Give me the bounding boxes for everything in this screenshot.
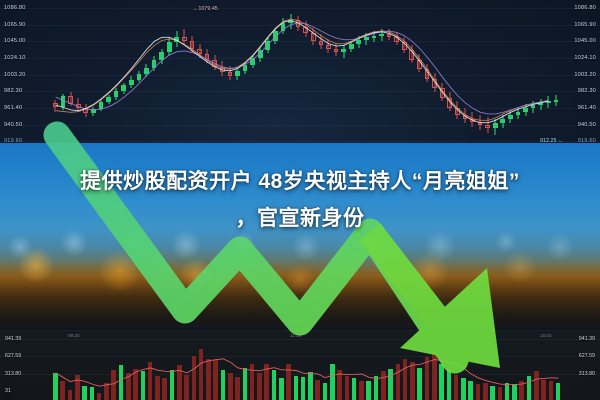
time-label: 15:00 <box>540 333 552 338</box>
price-axis-label: 940.50 <box>4 122 22 128</box>
ma-line-purple <box>56 23 549 114</box>
price-axis-label: 1045.00 <box>574 38 596 44</box>
volume-ma-line <box>0 331 600 400</box>
price-axis-label: 1003.20 <box>4 72 26 78</box>
price-axis-label: 982.30 <box>578 88 596 94</box>
price-axis-label: 1086.80 <box>4 5 26 11</box>
price-axis-label: 1065.90 <box>4 22 26 28</box>
price-axis-label: 1065.90 <box>574 22 596 28</box>
volume-axis-label: 313.80 <box>579 371 595 377</box>
volume-axis-label: 941.39 <box>5 336 21 342</box>
price-axis-label: 1003.20 <box>574 72 596 78</box>
time-label: 11:30 <box>290 333 301 338</box>
price-axis-label: 1024.10 <box>4 55 26 61</box>
time-label: 09:30 <box>68 333 80 338</box>
headline-line-1: 提供炒股配资开户 48岁央视主持人“月亮姐姐” <box>0 163 600 200</box>
peak-annotation: ←1079.45 <box>193 6 218 12</box>
volume-axis-label: 627.59 <box>5 353 21 359</box>
headline-line-2: ，官宣新身份 <box>0 200 600 237</box>
price-axis-label: 982.30 <box>4 88 22 94</box>
volume-axis-label: 941.39 <box>579 336 595 342</box>
volume-ma-polyline <box>56 359 559 386</box>
volume-chart-panel: 941.39627.59313.8031 941.39627.59313.80 <box>0 330 600 400</box>
price-axis-label: 1045.00 <box>4 38 26 44</box>
price-axis-label: 1024.10 <box>574 55 596 61</box>
headline-text: 提供炒股配资开户 48岁央视主持人“月亮姐姐” ，官宣新身份 <box>0 163 600 237</box>
price-axis-label: 961.40 <box>4 105 22 111</box>
screenshot-root: 1086.801065.901045.001024.101003.20982.3… <box>0 0 600 400</box>
price-axis-label: 940.50 <box>578 122 596 128</box>
volume-axis-label: 313.80 <box>5 371 21 377</box>
price-axis-label: 961.40 <box>578 105 596 111</box>
volume-axis-label: 31 <box>5 388 11 394</box>
volume-axis-label: 627.59 <box>579 353 595 359</box>
price-axis-label: 1086.80 <box>574 5 596 11</box>
